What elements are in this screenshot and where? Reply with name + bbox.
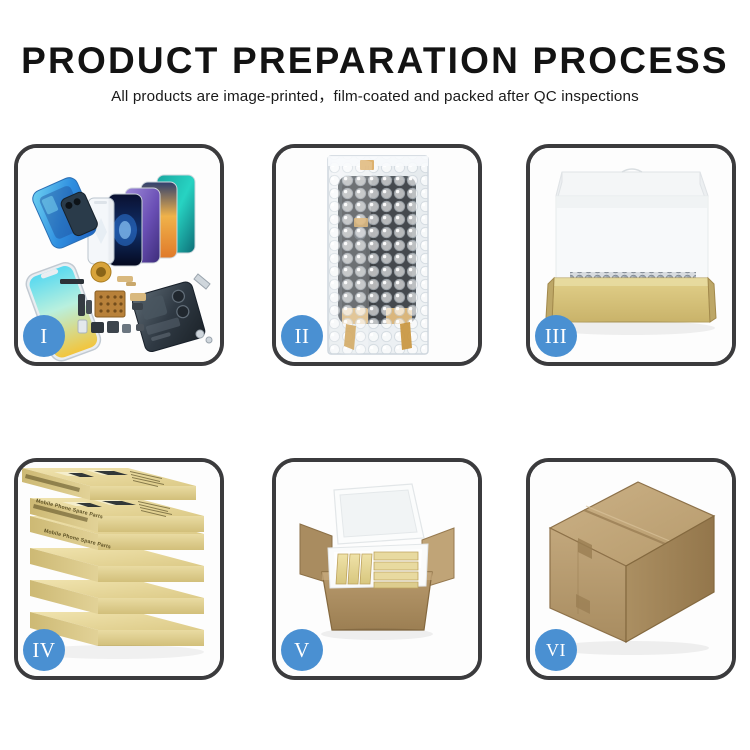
step-panel-1: I bbox=[14, 144, 224, 366]
page-subtitle: All products are image-printed，film-coat… bbox=[0, 86, 750, 108]
step-panel-2: II bbox=[272, 144, 482, 366]
step-badge-6: VI bbox=[535, 629, 577, 671]
step-badge-4: IV bbox=[23, 629, 65, 671]
step-panel-5: V bbox=[272, 458, 482, 680]
step-panel-6: VI bbox=[526, 458, 736, 680]
step-badge-5: V bbox=[281, 629, 323, 671]
step-panel-3: III bbox=[526, 144, 736, 366]
step-badge-1: I bbox=[23, 315, 65, 357]
product-preparation-infographic: PRODUCT PREPARATION PROCESS All products… bbox=[0, 0, 750, 750]
page-title: PRODUCT PREPARATION PROCESS bbox=[0, 40, 750, 82]
step-badge-2: II bbox=[281, 315, 323, 357]
step-badge-3: III bbox=[535, 315, 577, 357]
step-panel-4: Mobile Phone Spare Parts Mobile Phone Sp… bbox=[14, 458, 224, 680]
